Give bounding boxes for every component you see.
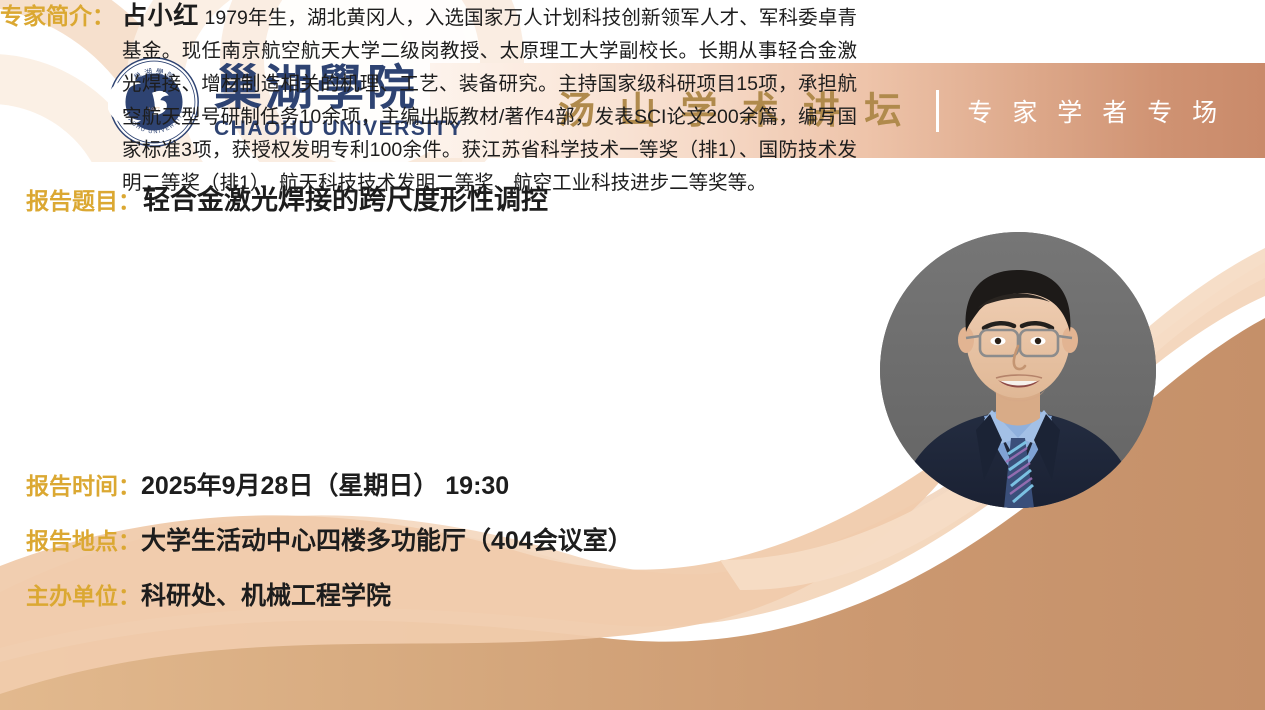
talk-place-label: 报告地点： [26,522,141,556]
talk-host-value: 科研处、机械工程学院 [141,576,391,612]
talk-title-row: 报告题目： 轻合金激光焊接的跨尺度形性调控 [26,178,548,217]
speaker-bio-text: 占小红 1979年生，湖北黄冈人，入选国家万人计划科技创新领军人才、军科委卓青基… [122,0,857,200]
speaker-bio-paragraph: 1979年生，湖北黄冈人，入选国家万人计划科技创新领军人才、军科委卓青基金。现任… [122,7,857,194]
poster-canvas: 汤 山 学 术 讲 坛 专 家 学 者 专 场 1977 巢 湖 學 院 [0,0,1265,710]
talk-place-value: 大学生活动中心四楼多功能厅（404会议室） [141,521,633,557]
speaker-portrait-image [880,232,1156,508]
talk-host-row: 主办单位： 科研处、机械工程学院 [26,576,391,612]
talk-title-value: 轻合金激光焊接的跨尺度形性调控 [143,178,548,217]
poster-content: 报告题目： 轻合金激光焊接的跨尺度形性调控 专家简介： 占小红 1979年生，湖… [0,0,1265,710]
speaker-bio-label: 专家简介： [0,0,115,33]
speaker-bio-row: 专家简介： 占小红 1979年生，湖北黄冈人，入选国家万人计划科技创新领军人才、… [0,0,860,200]
talk-time-value: 2025年9月28日（星期日） 19:30 [141,466,509,502]
talk-time-row: 报告时间： 2025年9月28日（星期日） 19:30 [26,466,509,502]
talk-title-label: 报告题目： [26,182,141,216]
talk-host-label: 主办单位： [26,577,141,611]
speaker-name: 占小红 [122,2,199,30]
talk-time-label: 报告时间： [26,467,141,501]
speaker-portrait [880,232,1156,508]
talk-place-row: 报告地点： 大学生活动中心四楼多功能厅（404会议室） [26,521,633,557]
